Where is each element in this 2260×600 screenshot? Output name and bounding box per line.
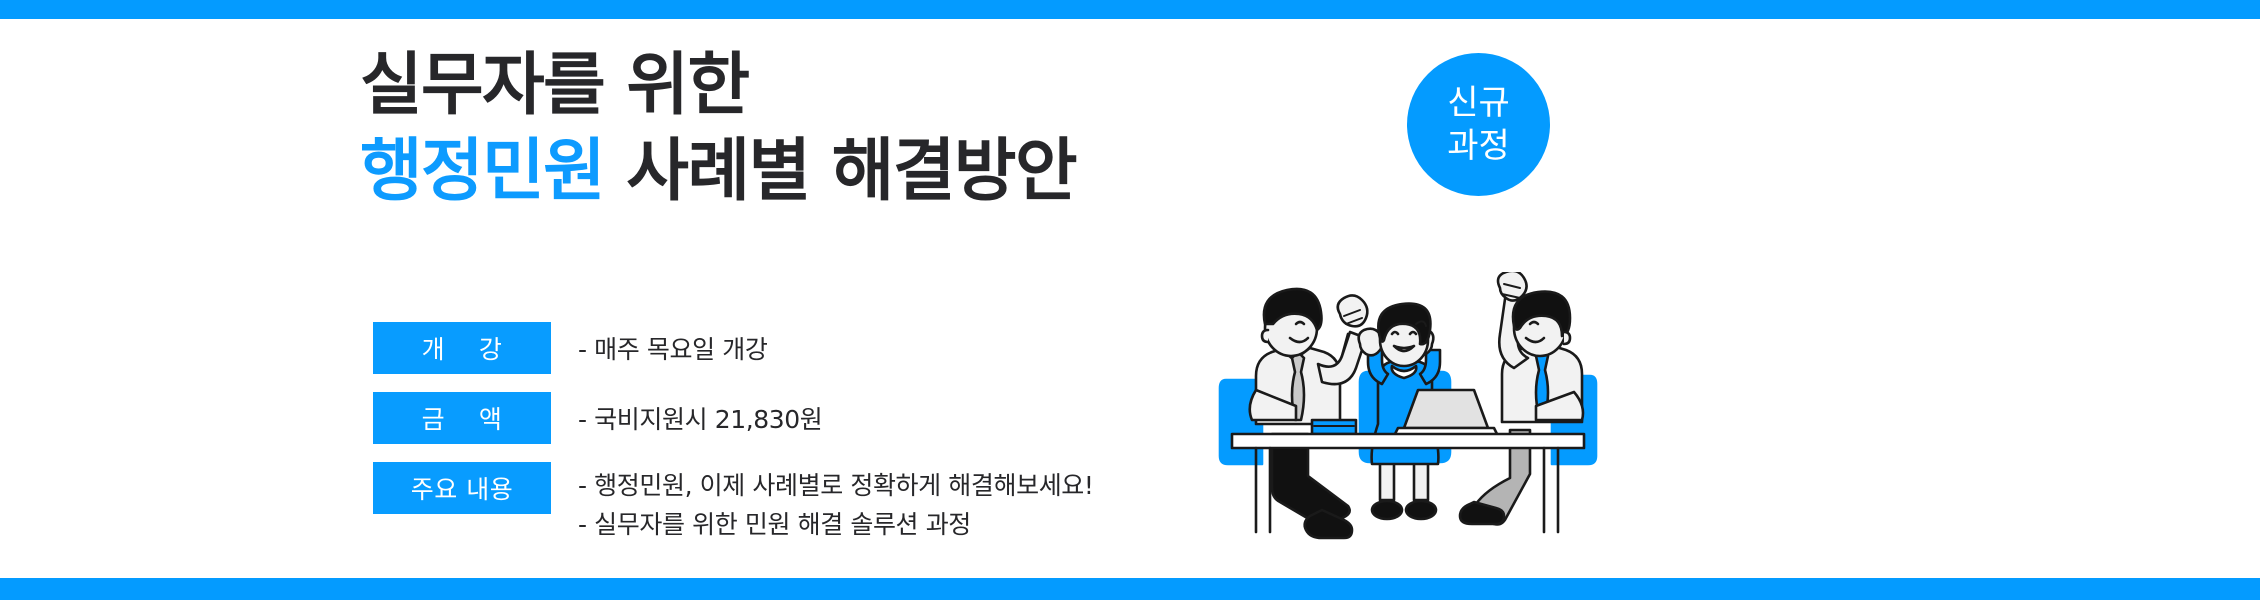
center-person-shoe-left: [1372, 501, 1402, 519]
info-values-price: - 국비지원시 21,830원: [578, 392, 822, 440]
info-value-price-1: - 국비지원시 21,830원: [578, 401, 822, 440]
badge-line-1: 신규: [1447, 83, 1510, 123]
new-course-badge: 신규 과정: [1407, 53, 1550, 196]
info-value-start-date-1: - 매주 목요일 개강: [578, 331, 767, 370]
badge-line-2: 과정: [1447, 126, 1510, 166]
headline-line-2: 행정민원 사례별 해결방안: [360, 130, 1360, 214]
headline-line-1: 실무자를 위한: [360, 44, 1360, 128]
team-celebration-illustration: [1218, 272, 1598, 552]
team-celebration-svg: [1218, 272, 1598, 552]
headline-accent-text: 행정민원: [360, 132, 604, 211]
info-row-start-date: 개 강 - 매주 목요일 개강: [373, 322, 1094, 374]
info-value-description-2: - 실무자를 위한 민원 해결 솔루션 과정: [578, 506, 1094, 545]
bottom-accent-bar: [0, 578, 2260, 600]
top-accent-bar: [0, 0, 2260, 19]
course-promo-banner: 실무자를 위한 행정민원 사례별 해결방안 신규 과정 개 강 - 매주 목요일…: [0, 0, 2260, 600]
right-person-ear: [1564, 332, 1570, 344]
page-title: 실무자를 위한 행정민원 사례별 해결방안: [360, 44, 1360, 215]
info-row-description: 주요 내용 - 행정민원, 이제 사례별로 정확하게 해결해보세요! - 실무자…: [373, 462, 1094, 545]
course-info-table: 개 강 - 매주 목요일 개강 금 액 - 국비지원시 21,830원 주요 내…: [373, 322, 1094, 545]
info-row-price: 금 액 - 국비지원시 21,830원: [373, 392, 1094, 444]
desk-top: [1232, 434, 1584, 448]
info-label-description: 주요 내용: [373, 462, 551, 514]
info-value-description-1: - 행정민원, 이제 사례별로 정확하게 해결해보세요!: [578, 467, 1094, 506]
laptop-screen: [1404, 390, 1488, 428]
headline-rest-text: 사례별 해결방안: [604, 132, 1076, 211]
info-values-start-date: - 매주 목요일 개강: [578, 322, 767, 370]
left-person-ear: [1262, 330, 1268, 342]
center-person-shoe-right: [1406, 501, 1436, 519]
info-label-price: 금 액: [373, 392, 551, 444]
info-label-start-date: 개 강: [373, 322, 551, 374]
info-values-description: - 행정민원, 이제 사례별로 정확하게 해결해보세요! - 실무자를 위한 민…: [578, 462, 1094, 545]
